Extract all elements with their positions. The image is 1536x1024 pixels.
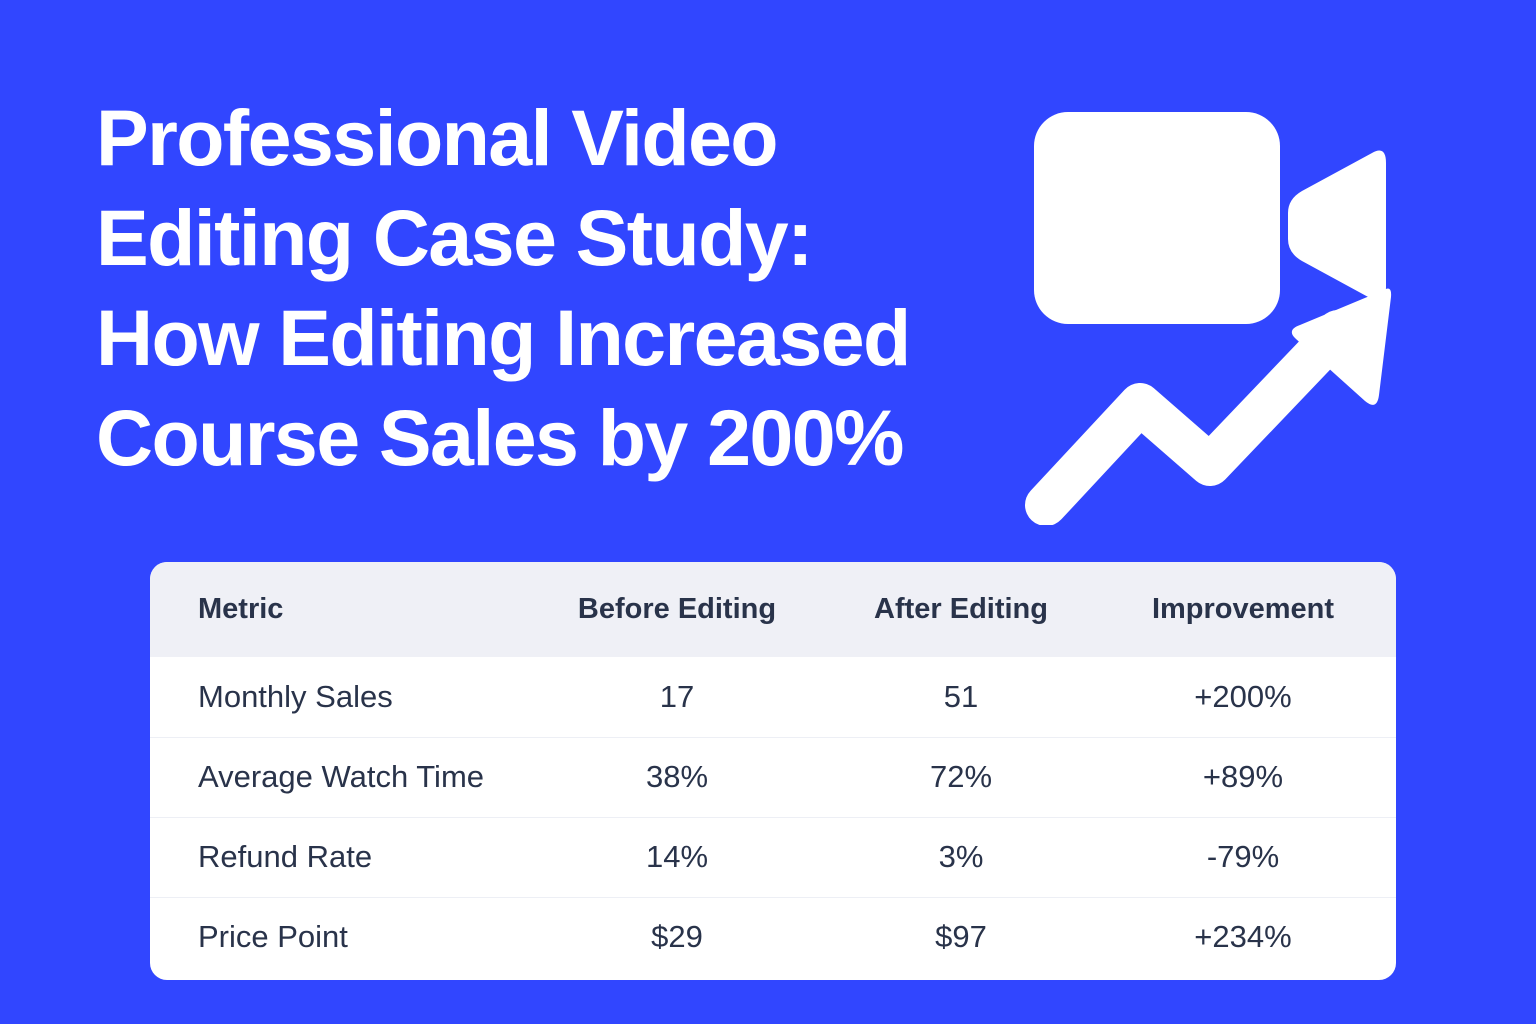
cell-after: 51 [832, 657, 1114, 737]
cell-before: $29 [552, 897, 832, 977]
cell-after: 3% [832, 817, 1114, 897]
cell-before: 14% [552, 817, 832, 897]
column-header-improvement: Improvement [1114, 562, 1396, 657]
page-title-line-1: Professional Video [96, 88, 1046, 188]
table-row: Refund Rate 14% 3% -79% [150, 817, 1396, 897]
metrics-table: Metric Before Editing After Editing Impr… [150, 562, 1396, 977]
table-header-row: Metric Before Editing After Editing Impr… [150, 562, 1396, 657]
cell-after: $97 [832, 897, 1114, 977]
cell-improvement: +89% [1114, 737, 1396, 817]
video-camera-icon [1034, 112, 1386, 324]
trending-up-arrow-icon [1046, 331, 1338, 505]
cell-improvement: +234% [1114, 897, 1396, 977]
metrics-card: Metric Before Editing After Editing Impr… [150, 562, 1396, 980]
cell-metric: Refund Rate [150, 817, 552, 897]
table-row: Monthly Sales 17 51 +200% [150, 657, 1396, 737]
cell-after: 72% [832, 737, 1114, 817]
column-header-metric: Metric [150, 562, 552, 657]
page-title-line-3: How Editing Increased [96, 288, 1046, 388]
cell-metric: Monthly Sales [150, 657, 552, 737]
cell-before: 17 [552, 657, 832, 737]
page-title: Professional Video Editing Case Study: H… [96, 88, 1046, 488]
table-row: Average Watch Time 38% 72% +89% [150, 737, 1396, 817]
cell-improvement: -79% [1114, 817, 1396, 897]
cell-metric: Price Point [150, 897, 552, 977]
table-body: Monthly Sales 17 51 +200% Average Watch … [150, 657, 1396, 977]
hero-illustration [1020, 95, 1440, 525]
page-title-line-2: Editing Case Study: [96, 188, 1046, 288]
column-header-after: After Editing [832, 562, 1114, 657]
table-row: Price Point $29 $97 +234% [150, 897, 1396, 977]
page-title-line-4: Course Sales by 200% [96, 388, 1046, 488]
cell-before: 38% [552, 737, 832, 817]
cell-improvement: +200% [1114, 657, 1396, 737]
table-header: Metric Before Editing After Editing Impr… [150, 562, 1396, 657]
column-header-before: Before Editing [552, 562, 832, 657]
cell-metric: Average Watch Time [150, 737, 552, 817]
